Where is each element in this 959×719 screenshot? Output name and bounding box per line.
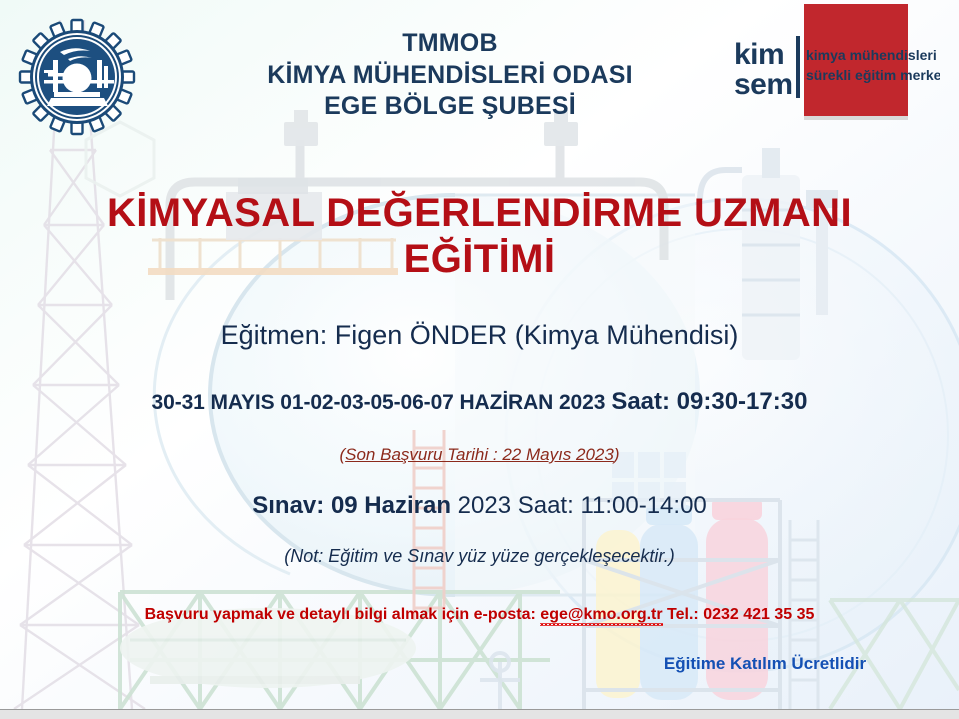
- exam-line: Sınav: 09 Haziran 2023 Saat: 11:00-14:00: [40, 492, 919, 520]
- header-line-branch: EGE BÖLGE ŞUBESİ: [170, 91, 730, 123]
- contact-line: Başvuru yapmak ve detaylı bilgi almak iç…: [40, 606, 919, 624]
- page-title: KİMYASAL DEĞERLENDİRME UZMANI EĞİTİMİ: [40, 190, 919, 282]
- schedule-dates: 30-31 MAYIS 01-02-03-05-06-07 HAZİRAN 20…: [152, 391, 606, 414]
- exam-label: Sınav:: [252, 492, 324, 519]
- application-deadline: (Son Başvuru Tarihi : 22 Mayıs 2023): [40, 445, 919, 465]
- tmmob-logo: [18, 18, 136, 136]
- fee-note: Eğitime Katılım Ücretlidir: [600, 654, 930, 674]
- kimsem-tagline-2: sürekli eğitim merkezi: [806, 67, 940, 83]
- header-line-chamber: KİMYA MÜHENDİSLERİ ODASI: [170, 60, 730, 92]
- title-line-1: KİMYASAL DEĞERLENDİRME UZMANI: [40, 190, 919, 236]
- kimsem-word-bottom: sem: [734, 68, 793, 101]
- format-note: (Not: Eğitim ve Sınav yüz yüze gerçekleş…: [40, 546, 919, 567]
- kimsem-logo-graphic: kim sem kimya mühendisleri odası sürekli…: [726, 4, 940, 122]
- deadline-close-paren: ): [614, 445, 620, 464]
- organization-header: TMMOB KİMYA MÜHENDİSLERİ ODASI EGE BÖLGE…: [170, 28, 730, 123]
- presentation-slide: TMMOB KİMYA MÜHENDİSLERİ ODASI EGE BÖLGE…: [0, 0, 959, 719]
- kimsem-word-top: kim: [734, 38, 784, 71]
- contact-email[interactable]: ege@kmo.org.tr: [540, 606, 662, 624]
- contact-prefix: Başvuru yapmak ve detaylı bilgi almak iç…: [145, 606, 536, 623]
- gear-icon: [18, 18, 136, 136]
- contact-phone: Tel.: 0232 421 35 35: [667, 606, 814, 623]
- deadline-text: Son Başvuru Tarihi : 22 Mayıs 2023: [345, 445, 614, 464]
- schedule-hours: Saat: 09:30-17:30: [611, 388, 807, 415]
- schedule-line: 30-31 MAYIS 01-02-03-05-06-07 HAZİRAN 20…: [40, 388, 919, 416]
- exam-rest: 2023 Saat: 11:00-14:00: [458, 492, 707, 519]
- slide-bottom-edge: [0, 709, 959, 719]
- exam-date: 09 Haziran: [331, 492, 451, 519]
- kimsem-logo: kim sem kimya mühendisleri odası sürekli…: [726, 4, 940, 122]
- kimsem-tagline-1: kimya mühendisleri odası: [806, 47, 940, 63]
- kimsem-divider: [796, 36, 800, 98]
- title-line-2: EĞİTİMİ: [40, 236, 919, 282]
- header-line-tmmob: TMMOB: [170, 28, 730, 60]
- trainer-line: Eğitmen: Figen ÖNDER (Kimya Mühendisi): [40, 320, 919, 351]
